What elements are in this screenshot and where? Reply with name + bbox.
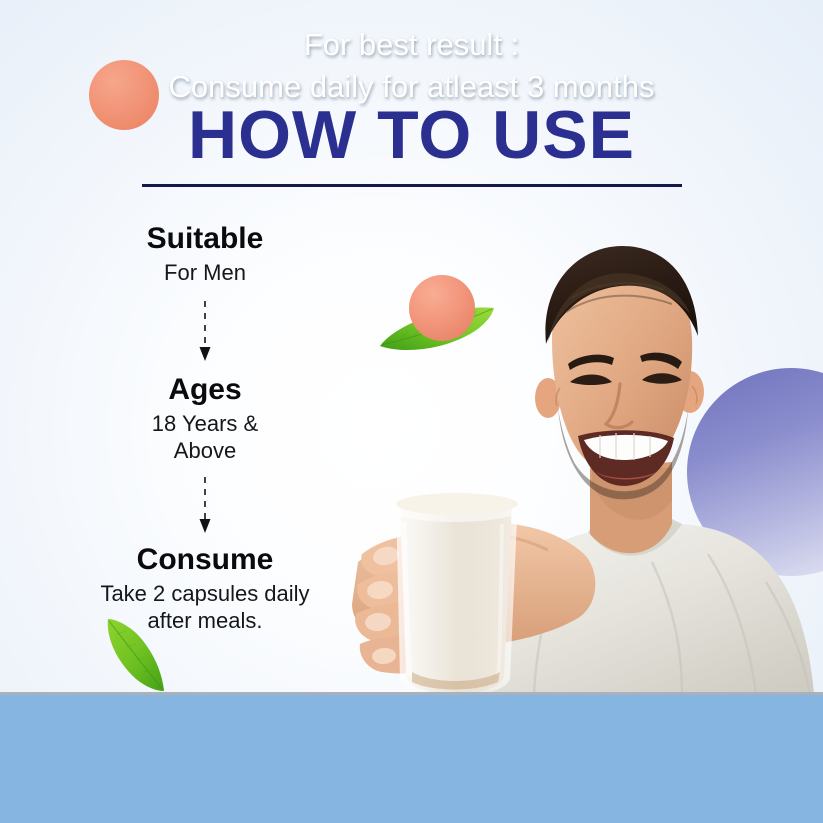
step-heading: Consume xyxy=(60,543,350,576)
step-heading: Suitable xyxy=(60,222,350,255)
usage-steps-list: Suitable For Men Ages 18 Years & Above C… xyxy=(60,222,350,635)
step-item-ages: Ages 18 Years & Above xyxy=(60,373,350,465)
best-result-banner xyxy=(0,692,823,823)
arrow-down-dashed-icon xyxy=(197,301,213,363)
arrow-down-dashed-icon xyxy=(197,477,213,535)
step-detail: 18 Years & Above xyxy=(60,410,350,465)
step-detail: For Men xyxy=(60,259,350,287)
coral-circle-decor-middle xyxy=(409,275,475,341)
banner-message: For best result : Consume daily for atle… xyxy=(0,24,823,109)
step-item-suitable: Suitable For Men xyxy=(60,222,350,287)
title-underline-divider xyxy=(142,184,682,187)
step-heading: Ages xyxy=(60,373,350,406)
leaf-icon-lower-left xyxy=(102,615,172,698)
page-title: HOW TO USE xyxy=(0,101,823,169)
how-to-use-infographic: HOW TO USE Suitable For Men Ages 18 Year… xyxy=(0,0,823,823)
